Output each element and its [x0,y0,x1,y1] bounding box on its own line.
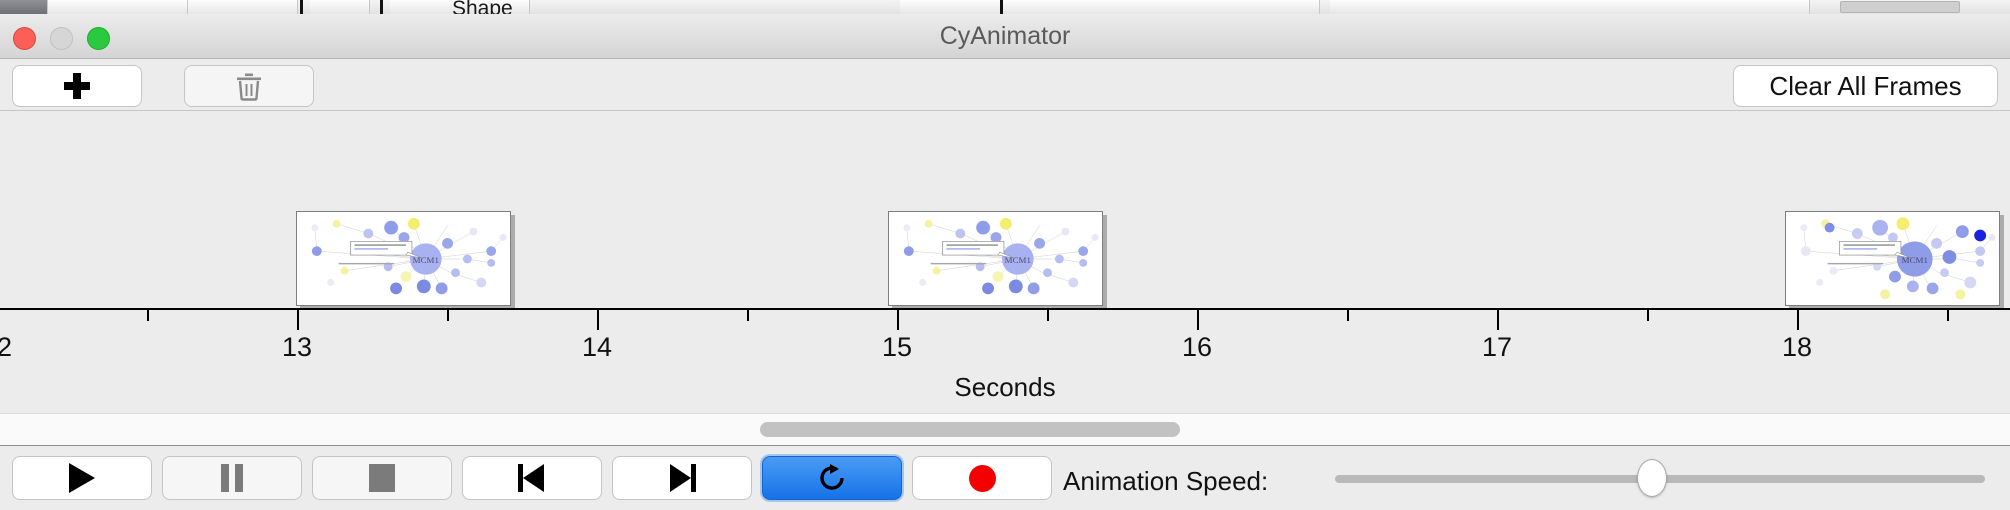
timeline-ruler[interactable]: 12 13 14 15 16 17 18 Seconds [0,310,2010,420]
trash-icon [234,70,264,102]
ruler-minor-tick [1947,310,1949,321]
ruler-tick-label: 13 [282,332,312,363]
loop-button[interactable] [762,456,902,500]
ruler-tick-label: 14 [582,332,612,363]
keyframe-thumbnail[interactable]: MCM1 [1785,211,2000,306]
ruler-minor-tick [1047,310,1049,321]
svg-text:MCM1: MCM1 [413,255,439,265]
ruler-minor-tick [1347,310,1349,321]
loop-icon [815,461,849,495]
ruler-tick-label: 15 [882,332,912,363]
add-frame-button[interactable] [12,65,142,107]
scrollbar-thumb[interactable] [760,422,1180,437]
title-bar: CyAnimator [0,14,2010,59]
stop-icon [369,464,395,492]
skip-end-icon [668,464,696,492]
ruler-minor-tick [1647,310,1649,321]
ruler-tick-label: 16 [1182,332,1212,363]
ruler-tick-label: 18 [1782,332,1812,363]
background-window-strip: Shape [0,0,2010,14]
plus-icon [64,73,90,99]
ruler-major-tick [297,310,299,330]
ruler-minor-tick [447,310,449,321]
play-button[interactable] [12,456,152,500]
background-chip [0,0,48,14]
network-graph-preview: MCM1 [1786,212,1999,305]
background-chip [1330,0,1810,14]
svg-text:MCM1: MCM1 [1005,255,1031,265]
ruler-minor-tick [747,310,749,321]
ruler-major-tick [1197,310,1199,330]
background-chip [900,0,1320,14]
axis-label-seconds: Seconds [0,372,2010,403]
timeline-horizontal-scrollbar[interactable] [0,413,2010,446]
record-button[interactable] [912,456,1052,500]
background-chip [48,0,188,14]
cyanimator-window: Shape CyAnimator Clear All Frames [0,0,2010,510]
network-graph-preview: MCM1 [297,212,510,305]
background-scrollbar [1840,1,1960,13]
record-icon [969,465,996,492]
ruler-major-tick [597,310,599,330]
keyframe-thumbnail[interactable]: MCM1 [296,211,511,306]
delete-frame-button[interactable] [184,65,314,107]
play-icon [69,463,95,493]
ruler-major-tick [1797,310,1799,330]
ruler-major-tick [897,310,899,330]
ruler-tick-label: 12 [0,332,12,363]
background-window-label: Shape [452,0,513,14]
skip-start-icon [518,464,546,492]
svg-text:MCM1: MCM1 [1902,255,1928,265]
toolbar: Clear All Frames [0,59,2010,111]
animation-speed-label: Animation Speed: [1063,466,1268,497]
pause-icon [221,464,243,492]
skip-to-start-button[interactable] [462,456,602,500]
keyframe-thumbnail[interactable]: MCM1 [888,211,1103,306]
ruler-major-tick [1497,310,1499,330]
pause-button[interactable] [162,456,302,500]
slider-thumb[interactable] [1637,459,1667,497]
timeline-track[interactable]: MCM1 [0,111,2010,310]
network-graph-preview: MCM1 [889,212,1102,305]
skip-to-end-button[interactable] [612,456,752,500]
ruler-minor-tick [147,310,149,321]
stop-button[interactable] [312,456,452,500]
background-chip [188,0,298,14]
background-tick [300,0,303,14]
background-chip [310,0,370,14]
background-tick [1000,0,1003,14]
clear-all-frames-button[interactable]: Clear All Frames [1733,65,1998,107]
background-tick [380,0,383,14]
window-title: CyAnimator [0,22,2010,51]
playback-controls-bar: Animation Speed: [0,446,2010,510]
animation-speed-slider[interactable] [1335,472,1985,484]
ruler-tick-label: 17 [1482,332,1512,363]
